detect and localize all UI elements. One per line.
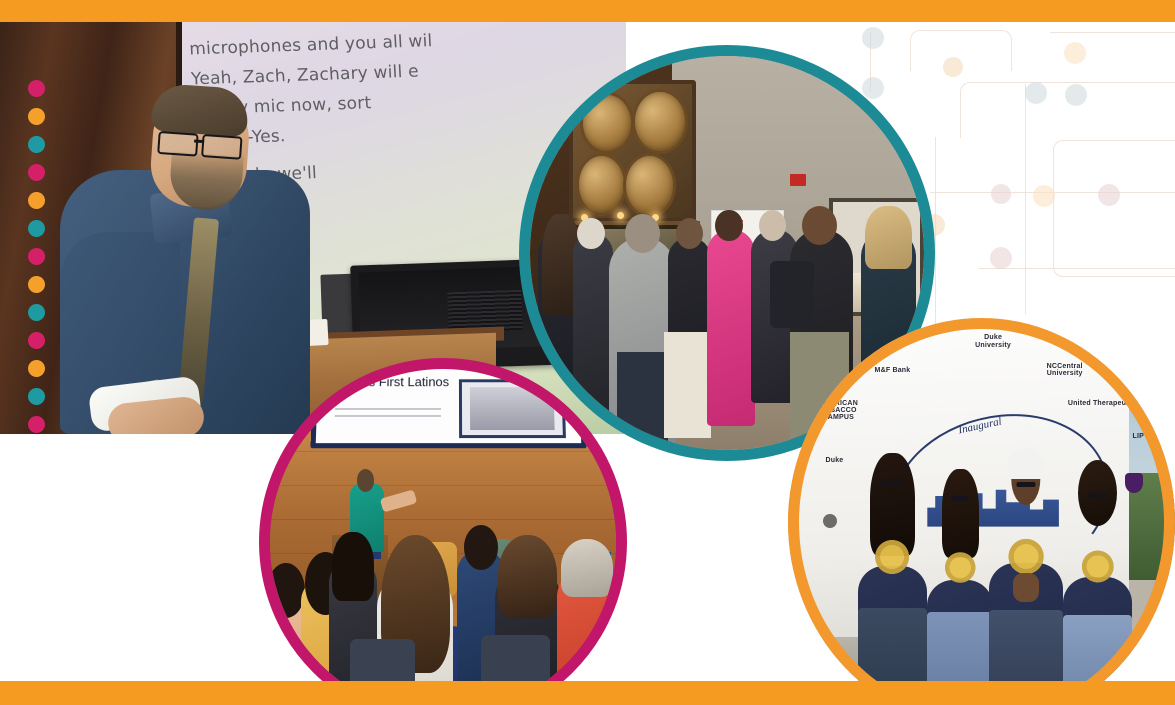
sponsor-logo-duke: Duke University xyxy=(966,334,1020,349)
banquet-chair xyxy=(481,635,550,681)
decor-dot xyxy=(28,136,45,153)
sponsor-logo-lip-label: LIP xyxy=(1132,433,1144,440)
attendee-skirt xyxy=(664,332,711,438)
speaker-figure xyxy=(60,82,350,434)
bull-city-shirt-logo xyxy=(1081,546,1114,587)
sponsor-logo-duke-health-label: Duke Health xyxy=(1113,334,1156,341)
decor-dot xyxy=(28,276,45,293)
attendee-head xyxy=(759,210,787,242)
circuit-trace xyxy=(910,30,1012,71)
sponsor-logo-duke-secondary: Duke xyxy=(807,457,861,464)
jeans xyxy=(858,608,928,681)
wine-barrel xyxy=(580,92,633,154)
audience-hair xyxy=(561,539,613,598)
presenter-head xyxy=(357,469,374,491)
slide-title: Duke's First Latinos xyxy=(335,375,448,389)
circuit-node xyxy=(1064,42,1086,64)
attendee-head xyxy=(577,218,605,250)
sponsor-logo-united-therapeutics-label: United Therapeutics xyxy=(1068,400,1139,407)
decor-dot xyxy=(28,164,45,181)
bull-city-shirt-logo xyxy=(944,548,976,587)
circuit-node xyxy=(990,247,1012,269)
decor-dot xyxy=(28,360,45,377)
sponsor-logo-mf-bank: M&F Bank xyxy=(862,367,924,374)
sunglasses-icon xyxy=(1016,482,1035,487)
photo-latino-history-talk: Duke's First Latinos xyxy=(259,358,627,681)
speaker-hair xyxy=(150,83,249,138)
decor-dot xyxy=(28,80,45,97)
sponsor-logo-lip: LIP xyxy=(1121,433,1156,440)
hands-clasped xyxy=(1013,573,1039,602)
accent-light xyxy=(617,212,624,219)
circuit-node xyxy=(943,57,963,77)
braids-hair xyxy=(942,469,979,557)
circuit-trace xyxy=(1053,236,1175,277)
decor-dot xyxy=(28,416,45,433)
decor-dot xyxy=(28,192,45,209)
decorative-dot-column xyxy=(28,80,48,430)
group-member xyxy=(858,453,928,681)
sunglasses-icon xyxy=(883,481,903,486)
slide-photo-content xyxy=(469,388,554,430)
top-accent-bar xyxy=(0,0,1175,22)
sunglasses-icon xyxy=(952,496,969,501)
bull-city-shirt-logo xyxy=(1008,534,1045,578)
circuit-node xyxy=(1033,185,1055,207)
decor-dot xyxy=(28,304,45,321)
circuit-trace xyxy=(935,137,936,337)
sponsor-logo-nccu-label: NCCentral University xyxy=(1047,363,1083,377)
photo-bull-city-group: Inaugural Duke University M&F Bank NCCen… xyxy=(788,318,1175,681)
sponsor-logo-american-tobacco: AMERICAN TOBACCO CAMPUS xyxy=(803,400,873,422)
circuit-trace xyxy=(960,82,1175,138)
glasses-left-lens xyxy=(157,131,199,157)
sponsor-logo-duke-health: Duke Health xyxy=(1105,334,1163,341)
jeans xyxy=(989,610,1063,681)
glasses-right-lens xyxy=(201,134,243,160)
jeans xyxy=(1063,615,1133,681)
circuit-trace xyxy=(1053,140,1175,236)
banquet-chair xyxy=(350,639,416,681)
circuit-trace xyxy=(930,192,1175,193)
monitor-vent xyxy=(447,290,522,333)
sponsor-logo-american-tobacco-label: AMERICAN TOBACCO CAMPUS xyxy=(819,400,858,422)
sponsor-logo-united-therapeutics: United Therapeutics xyxy=(1067,400,1141,407)
collage-page: microphones and you all wilYeah, Zach, Z… xyxy=(0,0,1175,705)
attendee-pants xyxy=(617,352,668,447)
presentation-screen: Duke's First Latinos xyxy=(310,363,586,449)
jeans xyxy=(927,612,993,681)
audience-hair xyxy=(464,525,499,570)
sponsor-logo-duke-secondary-label: Duke xyxy=(825,457,843,464)
audience-hair xyxy=(267,563,305,618)
bottom-accent-bar xyxy=(0,681,1175,705)
barrel-display-wall xyxy=(569,80,695,222)
group-member xyxy=(1063,465,1133,681)
decor-dot xyxy=(28,108,45,125)
slide-body-lines xyxy=(335,408,441,419)
circuit-node xyxy=(862,27,884,49)
audience-hair xyxy=(498,535,557,618)
decor-dot xyxy=(28,220,45,237)
cap-icon xyxy=(1008,448,1043,479)
circuit-node xyxy=(1098,184,1120,206)
sponsor-logo-nccu: NCCentral University xyxy=(1032,363,1098,378)
circuit-node xyxy=(1025,82,1047,104)
slide-historical-photo xyxy=(458,380,565,439)
audience-hair xyxy=(332,532,374,601)
attendee-pink-dress xyxy=(707,229,754,426)
sponsor-logo-duke-label: Duke University xyxy=(975,334,1011,348)
attendee-hair xyxy=(865,206,912,269)
group-member xyxy=(927,469,993,681)
circuit-trace xyxy=(978,268,1175,269)
attendee-head xyxy=(715,210,743,242)
wine-barrel xyxy=(632,89,688,154)
wine-barrel xyxy=(576,153,627,215)
sponsor-logo-mf-bank-label: M&F Bank xyxy=(875,367,911,374)
sunglasses-icon xyxy=(1089,493,1107,498)
collage-canvas: microphones and you all wilYeah, Zach, Z… xyxy=(0,22,1175,681)
decor-dot xyxy=(28,248,45,265)
fire-alarm-icon xyxy=(790,174,806,186)
circuit-trace xyxy=(1025,84,1026,314)
bull-city-shirt-logo xyxy=(875,535,910,579)
circuit-trace xyxy=(1050,32,1175,33)
circuit-node xyxy=(1065,84,1087,106)
group-member xyxy=(989,453,1063,681)
wine-barrel xyxy=(623,153,676,218)
attendee-head xyxy=(625,214,660,253)
decor-dot xyxy=(28,332,45,349)
decor-dot xyxy=(28,388,45,405)
circuit-node xyxy=(991,184,1011,204)
